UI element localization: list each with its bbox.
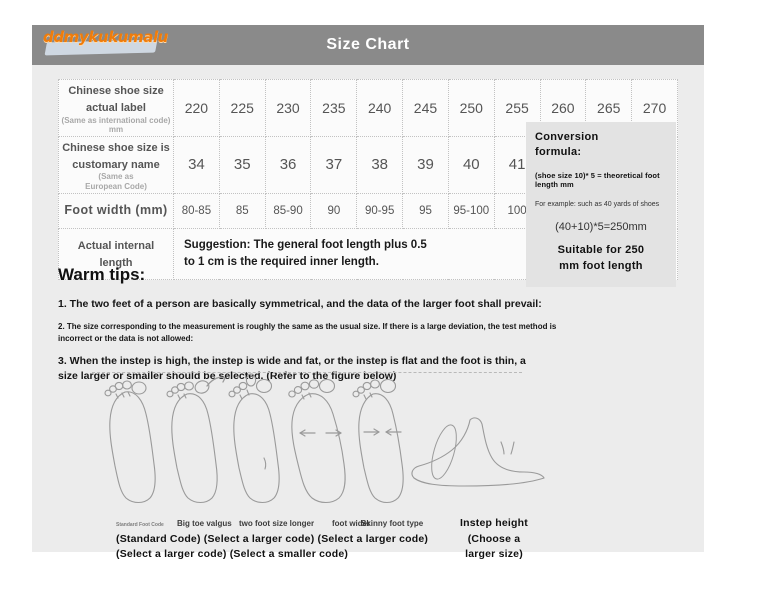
row-label-foot-width: Foot width (mm): [59, 193, 174, 228]
row-label-line1: Chinese shoe size: [68, 85, 163, 97]
formula-rule: (shoe size 10)* 5 = theoretical foot len…: [535, 171, 667, 189]
foot-outlines-svg: [92, 370, 572, 530]
suggestion-line-1: Suggestion: The general foot length plus…: [184, 239, 427, 251]
formula-title: Conversion formula:: [535, 130, 667, 160]
table-cell: 230: [265, 80, 311, 137]
row-label-european: Chinese shoe size is customary name (Sam…: [59, 136, 174, 193]
page-title: Size Chart: [326, 36, 409, 54]
foot-valgus-icon: [167, 377, 225, 503]
formula-calculation: (40+10)*5=250mm: [535, 221, 667, 233]
row-label-sub2: European Code): [60, 182, 172, 191]
row-label-chinese-actual: Chinese shoe size actual label (Same as …: [59, 80, 174, 137]
table-cell: 235: [311, 80, 357, 137]
foot-longer-icon: [229, 374, 279, 503]
table-cell: 90: [311, 193, 357, 228]
table-cell: 95: [403, 193, 449, 228]
formula-example: For example: such as 40 yards of shoes: [535, 201, 667, 208]
warm-tip-2: 2. The size corresponding to the measure…: [58, 321, 578, 345]
caption-instep-detail: (Choose a larger size): [439, 532, 549, 562]
row-label-sub1: (Same as: [60, 172, 172, 181]
row-label-line2: actual label: [86, 102, 146, 114]
row-label-line1: Actual internal: [78, 240, 154, 252]
caption-foot-standard-small: Standard Foot Code: [116, 522, 164, 528]
formula-result-line2: mm foot length: [559, 260, 643, 272]
formula-result-line1: Suitable for 250: [558, 244, 645, 256]
table-cell: 85-90: [265, 193, 311, 228]
foot-standard-icon: [105, 381, 155, 503]
logo-text: ddmykukumalu: [43, 28, 168, 46]
row-label-sub1: (Same as international code): [60, 116, 172, 125]
foot-skinny-icon: [353, 380, 403, 503]
table-cell: 95-100: [448, 193, 494, 228]
row-label-line1: Chinese shoe size is: [62, 142, 170, 154]
formula-title-line1: Conversion: [535, 131, 599, 143]
table-cell: 38: [357, 136, 403, 193]
caption-foot-valgus: Big toe valgus: [177, 519, 232, 528]
page-header: ddmykukumalu Size Chart: [32, 25, 704, 65]
table-cell: 225: [219, 80, 265, 137]
caption-foot-skinny: Skinny foot type: [361, 519, 423, 528]
row-label-sub2: mm: [60, 125, 172, 134]
table-cell: 250: [448, 80, 494, 137]
foot-diagram-figure: [92, 370, 572, 530]
row-label-line1: Foot width (mm): [64, 203, 167, 217]
caption-main-line2: (Select a larger code) (Select a smaller…: [116, 548, 348, 560]
table-cell: 245: [403, 80, 449, 137]
table-cell: 35: [219, 136, 265, 193]
table-cell: 90-95: [357, 193, 403, 228]
table-cell: 40: [448, 136, 494, 193]
caption-instep-title: Instep height: [439, 516, 549, 531]
caption-main-block: (Standard Code) (Select a larger code) (…: [116, 532, 446, 562]
table-cell: 39: [403, 136, 449, 193]
instep-height-icon: [412, 418, 544, 486]
foot-wider-icon: [289, 380, 345, 503]
brand-logo: ddmykukumalu: [40, 26, 165, 58]
warm-tip-1: 1. The two feet of a person are basicall…: [58, 297, 558, 312]
caption-instep-line2: larger size): [465, 548, 523, 560]
table-cell: 85: [219, 193, 265, 228]
table-cell: 36: [265, 136, 311, 193]
caption-instep-line1: (Choose a: [468, 533, 521, 545]
caption-foot-longer: two foot size longer: [239, 519, 314, 528]
table-cell: 220: [174, 80, 220, 137]
row-label-line2: customary name: [72, 159, 159, 171]
size-chart-card: ddmykukumalu Size Chart Chinese shoe siz…: [32, 25, 704, 552]
table-cell: 34: [174, 136, 220, 193]
caption-main-line1: (Standard Code) (Select a larger code) (…: [116, 533, 428, 545]
table-cell: 37: [311, 136, 357, 193]
size-chart-page: ddmykukumalu Size Chart Chinese shoe siz…: [0, 0, 768, 598]
conversion-formula-box: Conversion formula: (shoe size 10)* 5 = …: [526, 122, 676, 287]
formula-result: Suitable for 250 mm foot length: [535, 243, 667, 275]
table-cell: 240: [357, 80, 403, 137]
table-cell: 80-85: [174, 193, 220, 228]
formula-title-line2: formula:: [535, 146, 581, 158]
